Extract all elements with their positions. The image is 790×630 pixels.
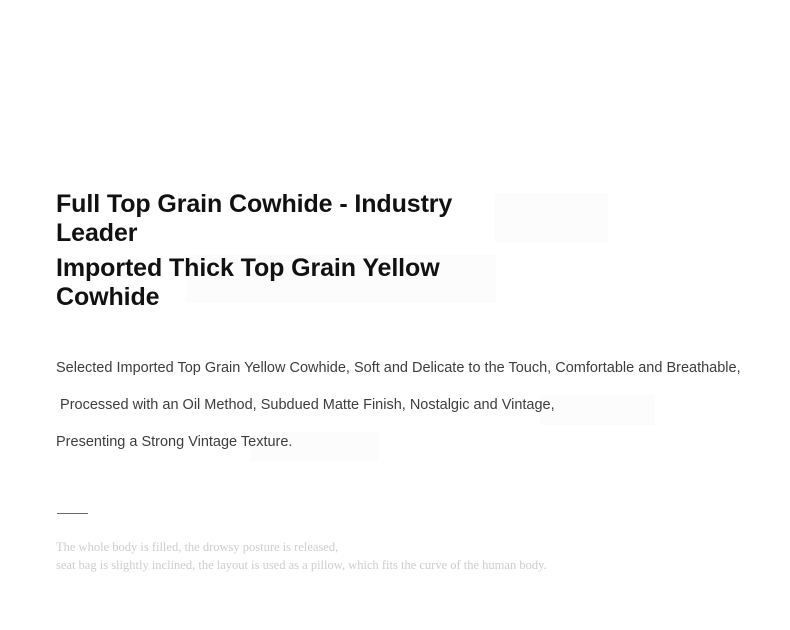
footer-line-2: seat bag is slightly inclined, the layou… (56, 556, 756, 574)
footer-line-1: The whole body is filled, the drowsy pos… (56, 538, 756, 556)
section-divider (57, 513, 88, 514)
footer-caption-group: The whole body is filled, the drowsy pos… (56, 538, 756, 574)
body-copy-group: Selected Imported Top Grain Yellow Cowhi… (56, 360, 776, 450)
product-description-page: Full Top Grain Cowhide - Industry Leader… (0, 0, 790, 630)
headline-group: Full Top Grain Cowhide - Industry Leader… (56, 190, 526, 312)
body-line-1: Selected Imported Top Grain Yellow Cowhi… (56, 360, 776, 376)
body-line-3: Presenting a Strong Vintage Texture. (56, 434, 776, 450)
headline-primary: Full Top Grain Cowhide - Industry Leader (56, 190, 526, 248)
body-line-2: Processed with an Oil Method, Subdued Ma… (56, 397, 776, 413)
headline-secondary: Imported Thick Top Grain Yellow Cowhide (56, 254, 526, 312)
